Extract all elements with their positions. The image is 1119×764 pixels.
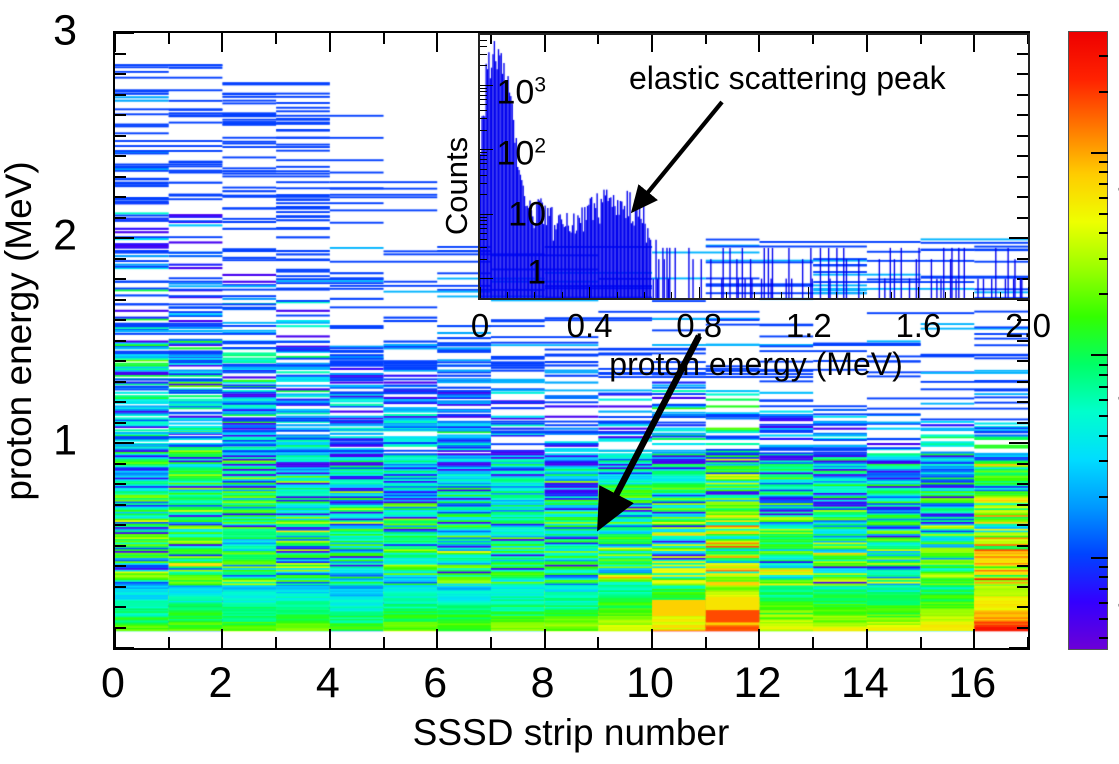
inset-y-tick <box>480 65 487 66</box>
inset-y-tick <box>480 239 487 240</box>
colorbar-tick <box>1099 618 1108 620</box>
x-tick-label: 10 <box>626 659 674 708</box>
x-tick <box>436 629 438 648</box>
x-tick-label: 4 <box>316 659 340 708</box>
inset-x-tick <box>781 292 782 298</box>
y-tick-right <box>1017 545 1028 547</box>
colorbar-tick <box>1099 364 1108 366</box>
colorbar-tick <box>1099 91 1108 93</box>
x-tick <box>275 637 277 648</box>
y-tick <box>115 135 126 137</box>
colorbar-tick <box>1091 152 1108 154</box>
x-tick <box>973 629 975 648</box>
y-tick <box>115 586 126 588</box>
colorbar-tick <box>1099 415 1108 417</box>
x-tick <box>221 629 223 648</box>
inset-x-tick-label: 1.6 <box>895 307 941 345</box>
colorbar-tick <box>1099 460 1108 462</box>
x-tick <box>544 629 546 648</box>
x-tick <box>1027 637 1029 648</box>
y-tick-right <box>1017 586 1028 588</box>
y-tick <box>115 627 126 629</box>
inset-y-tick <box>480 217 487 218</box>
inset-y-tick <box>480 149 493 150</box>
y-tick <box>115 73 126 75</box>
y-tick-label: 2 <box>53 215 77 258</box>
x-tick-label: 2 <box>208 659 232 708</box>
inset-y-tick <box>480 247 487 248</box>
y-tick-right <box>1017 524 1028 526</box>
inset-x-tick-label: 1.2 <box>786 307 832 345</box>
inset-x-tick <box>617 292 618 298</box>
x-tick <box>705 637 707 648</box>
inset-y-tick <box>480 95 487 96</box>
y-tick <box>115 504 126 506</box>
inset-y-tick <box>480 40 487 41</box>
y-tick-right <box>1017 360 1028 362</box>
inset-x-tick <box>726 292 727 298</box>
colorbar-tick <box>1099 258 1108 260</box>
elastic-scattering-peak-label: elastic scattering peak <box>629 60 946 97</box>
colorbar-tick <box>1099 161 1108 163</box>
inset-x-tick <box>836 292 837 298</box>
colorbar-tick <box>1099 566 1108 568</box>
inset-y-tick <box>480 220 487 221</box>
inset-y-tick <box>480 118 487 119</box>
colorbar: 102 10 1 <box>1068 31 1108 650</box>
inset-y-tick <box>480 278 493 279</box>
x-tick <box>114 629 116 648</box>
colorbar-tick <box>1099 293 1108 295</box>
x-tick-top <box>383 33 385 44</box>
inset-y-tick <box>480 54 487 55</box>
colorbar-tick <box>1099 399 1108 401</box>
inset-y-tick <box>480 194 487 195</box>
y-tick-right <box>1017 627 1028 629</box>
inset-ylabel-10: 10 <box>508 196 546 235</box>
x-tick <box>383 637 385 648</box>
inset-x-tick <box>754 292 755 298</box>
inset-y-tick <box>480 214 493 215</box>
colorbar-tick <box>1099 576 1108 578</box>
inset-y-tick <box>480 46 487 47</box>
inset-y-tick <box>480 152 487 153</box>
y-tick <box>115 606 126 608</box>
y-tick-right <box>1017 463 1028 465</box>
y-tick <box>115 360 126 362</box>
x-tick-top <box>436 33 438 52</box>
colorbar-tick <box>1099 171 1108 173</box>
y-tick-label: 1 <box>53 420 77 463</box>
x-tick <box>920 637 922 648</box>
inset-y-axis-title: Counts <box>439 137 475 235</box>
inset-ylabel-1: 1 <box>527 254 546 293</box>
y-tick <box>115 94 126 96</box>
colorbar-tick <box>1099 197 1108 199</box>
inset-y-tick <box>480 233 487 234</box>
y-tick <box>115 53 126 55</box>
y-tick-right <box>1017 565 1028 567</box>
y-tick <box>115 237 134 239</box>
x-tick <box>597 637 599 648</box>
inset-y-tick <box>480 159 487 160</box>
inset-y-tick <box>480 228 487 229</box>
y-tick-right <box>1017 422 1028 424</box>
inset-y-tick <box>480 259 487 260</box>
colorbar-tick <box>1099 496 1108 498</box>
y-tick <box>115 524 126 526</box>
x-tick-label: 8 <box>531 659 555 708</box>
x-tick-label: 0 <box>101 659 125 708</box>
y-tick-right <box>1017 381 1028 383</box>
inset-y-tick <box>480 104 487 105</box>
y-tick <box>115 217 126 219</box>
colorbar-tick <box>1099 374 1108 376</box>
colorbar-tick <box>1099 588 1108 590</box>
x-tick <box>490 637 492 648</box>
y-tick <box>115 278 126 280</box>
inset-y-tick <box>480 175 487 176</box>
inset-x-tick-label: 2.0 <box>1005 307 1051 345</box>
y-tick <box>115 114 126 116</box>
figure-root: 1230246810121416 proton energy (MeV) SSS… <box>0 0 1119 764</box>
x-tick-top <box>221 33 223 52</box>
inset-x-tick <box>945 292 946 298</box>
colorbar-tick <box>1099 232 1108 234</box>
inset-y-tick <box>480 155 487 156</box>
inset-y-tick <box>480 85 493 86</box>
x-tick <box>758 629 760 648</box>
x-tick-label: 16 <box>948 659 996 708</box>
inset-x-tick-label: 0.4 <box>567 307 613 345</box>
inset-x-axis-title: proton energy (MeV) <box>609 346 902 383</box>
y-tick <box>115 422 126 424</box>
x-tick-top <box>275 33 277 44</box>
x-tick-top <box>168 33 170 44</box>
inset-x-tick <box>507 292 508 298</box>
y-tick <box>115 545 126 547</box>
colorbar-tick <box>1099 183 1108 185</box>
y-axis-title: proton energy (MeV) <box>0 161 40 500</box>
inset-y-tick <box>480 130 487 131</box>
inset-x-tick-label: 0.8 <box>676 307 722 345</box>
x-tick <box>329 629 331 648</box>
x-tick-top <box>114 33 116 52</box>
y-tick <box>115 647 134 649</box>
inset-x-tick <box>589 287 590 298</box>
x-tick-top <box>329 33 331 52</box>
y-tick-right <box>1009 442 1028 444</box>
y-tick <box>115 463 126 465</box>
y-tick <box>115 442 134 444</box>
colorbar-tick <box>1099 386 1108 388</box>
inset-x-tick-label: 0 <box>471 307 489 345</box>
inset-y-tick <box>480 91 487 92</box>
x-axis-title: SSSD strip number <box>413 712 730 754</box>
y-tick <box>115 381 126 383</box>
inset-x-tick <box>973 292 974 298</box>
inset-x-tick <box>699 287 700 298</box>
y-tick <box>115 32 134 34</box>
inset-y-tick <box>480 183 487 184</box>
y-tick-right <box>1017 483 1028 485</box>
colorbar-tick <box>1099 602 1108 604</box>
y-tick <box>115 565 126 567</box>
inset-ylabel-1000: 103 <box>496 73 546 112</box>
x-tick-label: 6 <box>423 659 447 708</box>
y-tick <box>115 258 126 260</box>
y-tick-right <box>1009 647 1028 649</box>
y-tick <box>115 340 126 342</box>
inset-y-tick <box>480 169 487 170</box>
y-tick-right <box>1017 606 1028 608</box>
x-tick <box>168 637 170 648</box>
y-tick <box>115 299 126 301</box>
inset-x-tick <box>891 292 892 298</box>
y-tick-label: 3 <box>53 10 77 53</box>
inset-y-tick <box>480 99 487 100</box>
y-tick <box>115 319 126 321</box>
y-tick <box>115 176 126 178</box>
inset-x-tick <box>863 292 864 298</box>
inset-y-tick <box>480 88 487 89</box>
colorbar-tick <box>1099 55 1108 57</box>
x-tick <box>812 637 814 648</box>
colorbar-tick <box>1091 557 1108 559</box>
y-tick <box>115 196 126 198</box>
colorbar-tick <box>1099 435 1108 437</box>
y-tick <box>115 483 126 485</box>
y-tick-right <box>1017 504 1028 506</box>
inset-x-tick <box>808 287 809 298</box>
inset-y-tick <box>480 224 487 225</box>
x-tick <box>866 629 868 648</box>
x-tick-label: 12 <box>734 659 782 708</box>
inset-x-tick <box>480 287 481 298</box>
inset-ylabel-100: 102 <box>496 134 546 173</box>
inset-x-tick <box>644 292 645 298</box>
inset-x-tick <box>1028 287 1029 298</box>
colorbar-tick <box>1091 354 1108 356</box>
inset-x-tick <box>918 287 919 298</box>
colorbar-tick <box>1099 213 1108 215</box>
inset-x-tick <box>534 292 535 298</box>
colorbar-tick <box>1099 637 1108 639</box>
inset-y-tick <box>480 110 487 111</box>
inset-x-tick <box>671 292 672 298</box>
y-tick <box>115 401 126 403</box>
inset-y-tick <box>480 163 487 164</box>
y-tick-right <box>1017 401 1028 403</box>
inset-x-tick <box>562 292 563 298</box>
inset-x-tick <box>1000 292 1001 298</box>
x-tick-label: 14 <box>841 659 889 708</box>
y-tick <box>115 155 126 157</box>
x-tick <box>651 629 653 648</box>
